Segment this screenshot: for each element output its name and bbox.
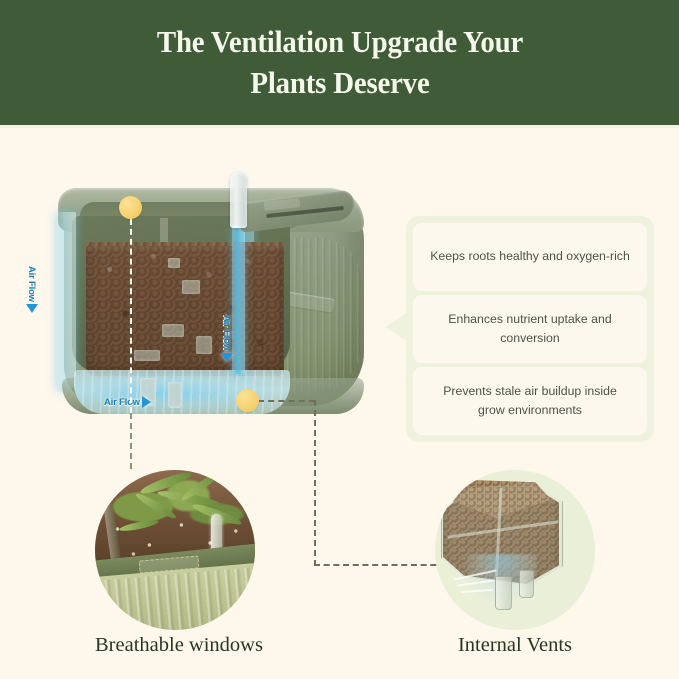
infographic-root: The Ventilation Upgrade Your Plants Dese… <box>0 0 679 679</box>
connector-vents-segment-3 <box>314 564 446 566</box>
arrow-icon <box>142 396 151 408</box>
internal-vent-leg <box>495 576 512 610</box>
left-air-channel <box>56 212 76 392</box>
internal-vent-leg <box>519 570 534 598</box>
arrow-icon <box>221 353 233 362</box>
connector-vents-segment-2 <box>314 400 316 566</box>
airflow-label-left-intake: Air Flow <box>26 266 38 313</box>
internal-vent-pillar <box>162 324 184 337</box>
soil-block <box>86 246 284 376</box>
airflow-label-text: Air Flow <box>104 397 140 408</box>
connector-windows-lower <box>130 413 132 469</box>
connector-vents-segment-1 <box>258 400 315 402</box>
detail-photo-internal-vents <box>435 470 595 630</box>
page-title: The Ventilation Upgrade Your Plants Dese… <box>121 22 558 104</box>
reservoir-vent-foot <box>168 382 182 408</box>
feature-card-text: Prevents stale air buildup inside grow e… <box>429 382 631 420</box>
marker-internal-vents <box>236 389 259 412</box>
feature-card-nutrients: Enhances nutrient uptake and conversion <box>413 295 647 363</box>
airflow-label-text: Air Flow <box>27 266 38 302</box>
arrow-icon <box>26 304 38 313</box>
feature-card-roots: Keeps roots healthy and oxygen-rich <box>413 223 647 291</box>
feature-card-text: Keeps roots healthy and oxygen-rich <box>430 247 630 266</box>
airflow-label-center-intake: Air Flow <box>221 315 233 362</box>
feature-card-stale-air: Prevents stale air buildup inside grow e… <box>413 367 647 435</box>
detail-photo-breathable-windows <box>95 470 255 630</box>
header-banner: The Ventilation Upgrade Your Plants Dese… <box>0 0 679 128</box>
detail-label-internal-vents: Internal Vents <box>435 634 595 657</box>
detail-breathable-windows: Breathable windows <box>95 470 255 630</box>
feature-panel: Keeps roots healthy and oxygen-rich Enha… <box>406 216 654 442</box>
feature-panel-pointer <box>385 313 407 341</box>
water-level-tube-lower <box>232 224 245 374</box>
airflow-label-text: Air Flow <box>222 315 233 351</box>
product-illustration <box>34 172 379 430</box>
detail-label-breathable-windows: Breathable windows <box>95 634 255 657</box>
marker-breathable-windows <box>119 196 142 219</box>
connector-windows-upper <box>130 219 132 413</box>
internal-vent-pillar <box>196 336 212 354</box>
internal-vent-pillar <box>134 350 160 361</box>
airflow-label-base-outflow: Air Flow <box>104 396 151 408</box>
detail-internal-vents: Internal Vents <box>435 470 595 630</box>
water-level-indicator <box>230 172 247 228</box>
internal-vent-pillar <box>182 280 200 294</box>
feature-card-text: Enhances nutrient uptake and conversion <box>429 310 631 348</box>
internal-vent-pillar <box>168 258 180 268</box>
